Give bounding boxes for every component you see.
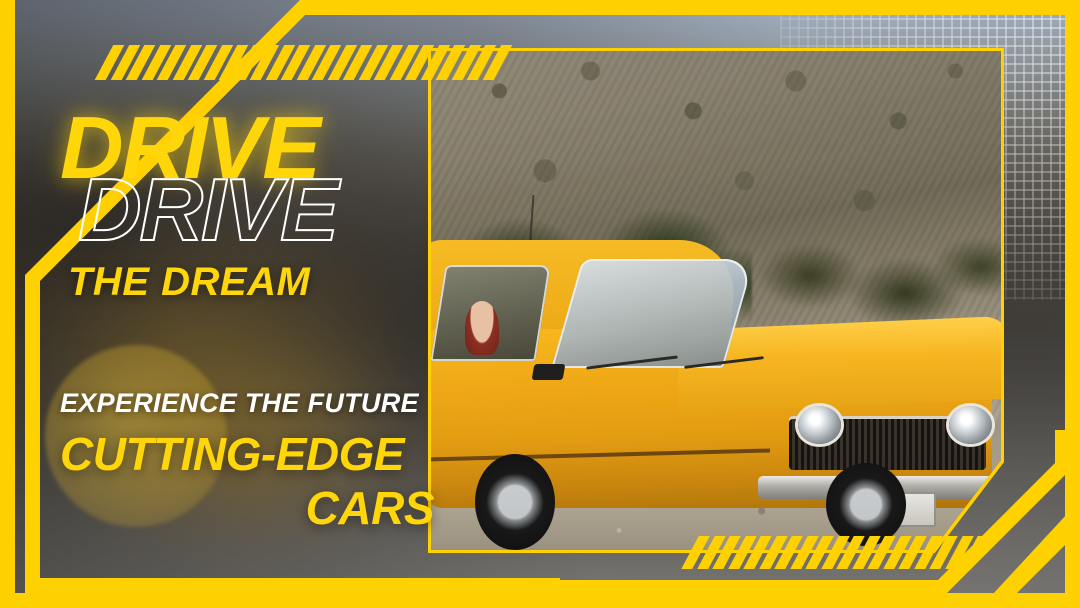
hero-photo <box>431 51 1001 550</box>
subcopy-block: EXPERIENCE THE FUTURE CUTTING-EDGE CARS <box>60 388 440 531</box>
hero-photo-panel <box>428 48 1004 553</box>
tagline-line-1: CUTTING-EDGE <box>60 431 440 477</box>
headline-echo-outline: DRIVE <box>78 170 337 251</box>
photo-vignette <box>431 51 1001 550</box>
diagonal-stripes-top <box>104 45 502 80</box>
tagline-line-2: CARS <box>60 485 440 531</box>
poster-canvas: DRIVE DRIVE THE DREAM EXPERIENCE THE FUT… <box>0 0 1080 608</box>
headline-sub: THE DREAM <box>68 260 310 305</box>
kicker-text: EXPERIENCE THE FUTURE <box>60 388 440 419</box>
diagonal-stripes-bottom <box>690 536 982 569</box>
headline-block: DRIVE DRIVE THE DREAM <box>60 108 420 189</box>
